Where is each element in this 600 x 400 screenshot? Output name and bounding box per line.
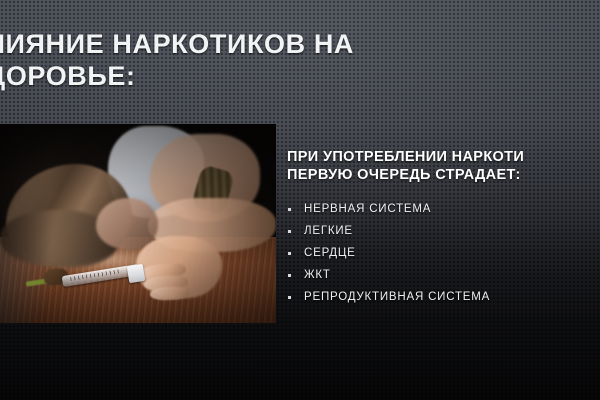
list-item: ЖКТ bbox=[286, 264, 596, 286]
presentation-slide: ЛИЯНИЕ НАРКОТИКОВ НА ДОРОВЬЕ: ПРИ УПОТРЕ… bbox=[0, 0, 600, 400]
slide-title-line-2: ДОРОВЬЕ: bbox=[0, 60, 506, 92]
slide-title: ЛИЯНИЕ НАРКОТИКОВ НА ДОРОВЬЕ: bbox=[0, 28, 506, 92]
affected-systems-list: НЕРВНАЯ СИСТЕМА ЛЕГКИЕ СЕРДЦЕ ЖКТ РЕПРОД… bbox=[286, 198, 596, 308]
slide-title-line-1: ЛИЯНИЕ НАРКОТИКОВ НА bbox=[0, 28, 506, 60]
content-heading-line-2: ПЕРВУЮ ОЧЕРЕДЬ СТРАДАЕТ: bbox=[287, 166, 600, 184]
drug-use-photo bbox=[0, 124, 276, 323]
list-item: НЕРВНАЯ СИСТЕМА bbox=[286, 198, 596, 220]
content-heading-line-1: ПРИ УПОТРЕБЛЕНИИ НАРКОТИ bbox=[287, 148, 600, 166]
content-heading: ПРИ УПОТРЕБЛЕНИИ НАРКОТИ ПЕРВУЮ ОЧЕРЕДЬ … bbox=[287, 148, 600, 184]
list-item: СЕРДЦЕ bbox=[286, 242, 596, 264]
list-item: РЕПРОДУКТИВНАЯ СИСТЕМА bbox=[286, 286, 596, 308]
list-item: ЛЕГКИЕ bbox=[286, 220, 596, 242]
photo-syringe-plunger bbox=[127, 264, 145, 283]
